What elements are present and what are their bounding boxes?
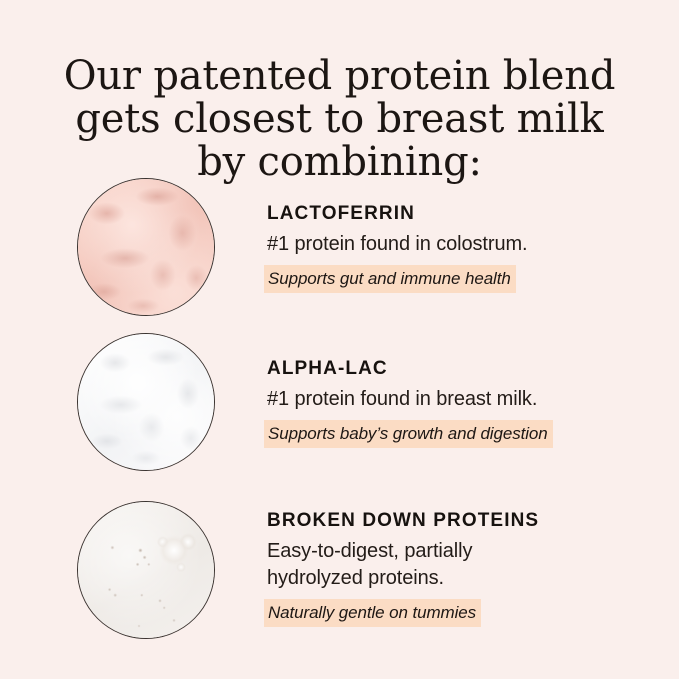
desc-line: hydrolyzed proteins.: [267, 565, 667, 592]
powder-texture: [77, 178, 215, 316]
liquid-texture: [77, 501, 215, 639]
benefit-row-alpha-lac: ALPHA-LAC #1 protein found in breast mil…: [0, 333, 679, 473]
infographic-poster: Our patented protein blend gets closest …: [0, 0, 679, 679]
lactoferrin-text-block: LACTOFERRIN #1 protein found in colostru…: [267, 202, 667, 293]
powder-texture: [77, 333, 215, 471]
item-description-lactoferrin: #1 protein found in colostrum.: [267, 231, 667, 258]
benefit-row-broken-down-proteins: BROKEN DOWN PROTEINS Easy-to-digest, par…: [0, 501, 679, 641]
desc-line: Easy-to-digest, partially: [267, 538, 667, 565]
desc-line: #1 protein found in breast milk.: [267, 386, 667, 413]
desc-line: #1 protein found in colostrum.: [267, 231, 667, 258]
item-description-broken-down-proteins: Easy-to-digest, partially hydrolyzed pro…: [267, 538, 667, 592]
status-badge-lactoferrin: Supports gut and immune health: [264, 265, 516, 293]
alpha-lac-text-block: ALPHA-LAC #1 protein found in breast mil…: [267, 357, 667, 448]
item-title-broken-down-proteins: BROKEN DOWN PROTEINS: [267, 509, 667, 533]
item-title-lactoferrin: LACTOFERRIN: [267, 202, 667, 226]
item-title-alpha-lac: ALPHA-LAC: [267, 357, 667, 381]
headline-line-1: Our patented protein blend: [0, 55, 679, 98]
lactoferrin-powder-swatch: [77, 178, 215, 316]
broken-down-proteins-swatch: [77, 501, 215, 639]
alpha-lac-powder-swatch: [77, 333, 215, 471]
item-description-alpha-lac: #1 protein found in breast milk.: [267, 386, 667, 413]
status-badge-broken-down-proteins: Naturally gentle on tummies: [264, 599, 481, 627]
status-badge-alpha-lac: Supports baby’s growth and digestion: [264, 420, 553, 448]
page-title: Our patented protein blend gets closest …: [0, 55, 679, 184]
headline-line-2: gets closest to breast milk: [0, 98, 679, 141]
benefit-row-lactoferrin: LACTOFERRIN #1 protein found in colostru…: [0, 178, 679, 318]
broken-down-proteins-text-block: BROKEN DOWN PROTEINS Easy-to-digest, par…: [267, 509, 667, 627]
